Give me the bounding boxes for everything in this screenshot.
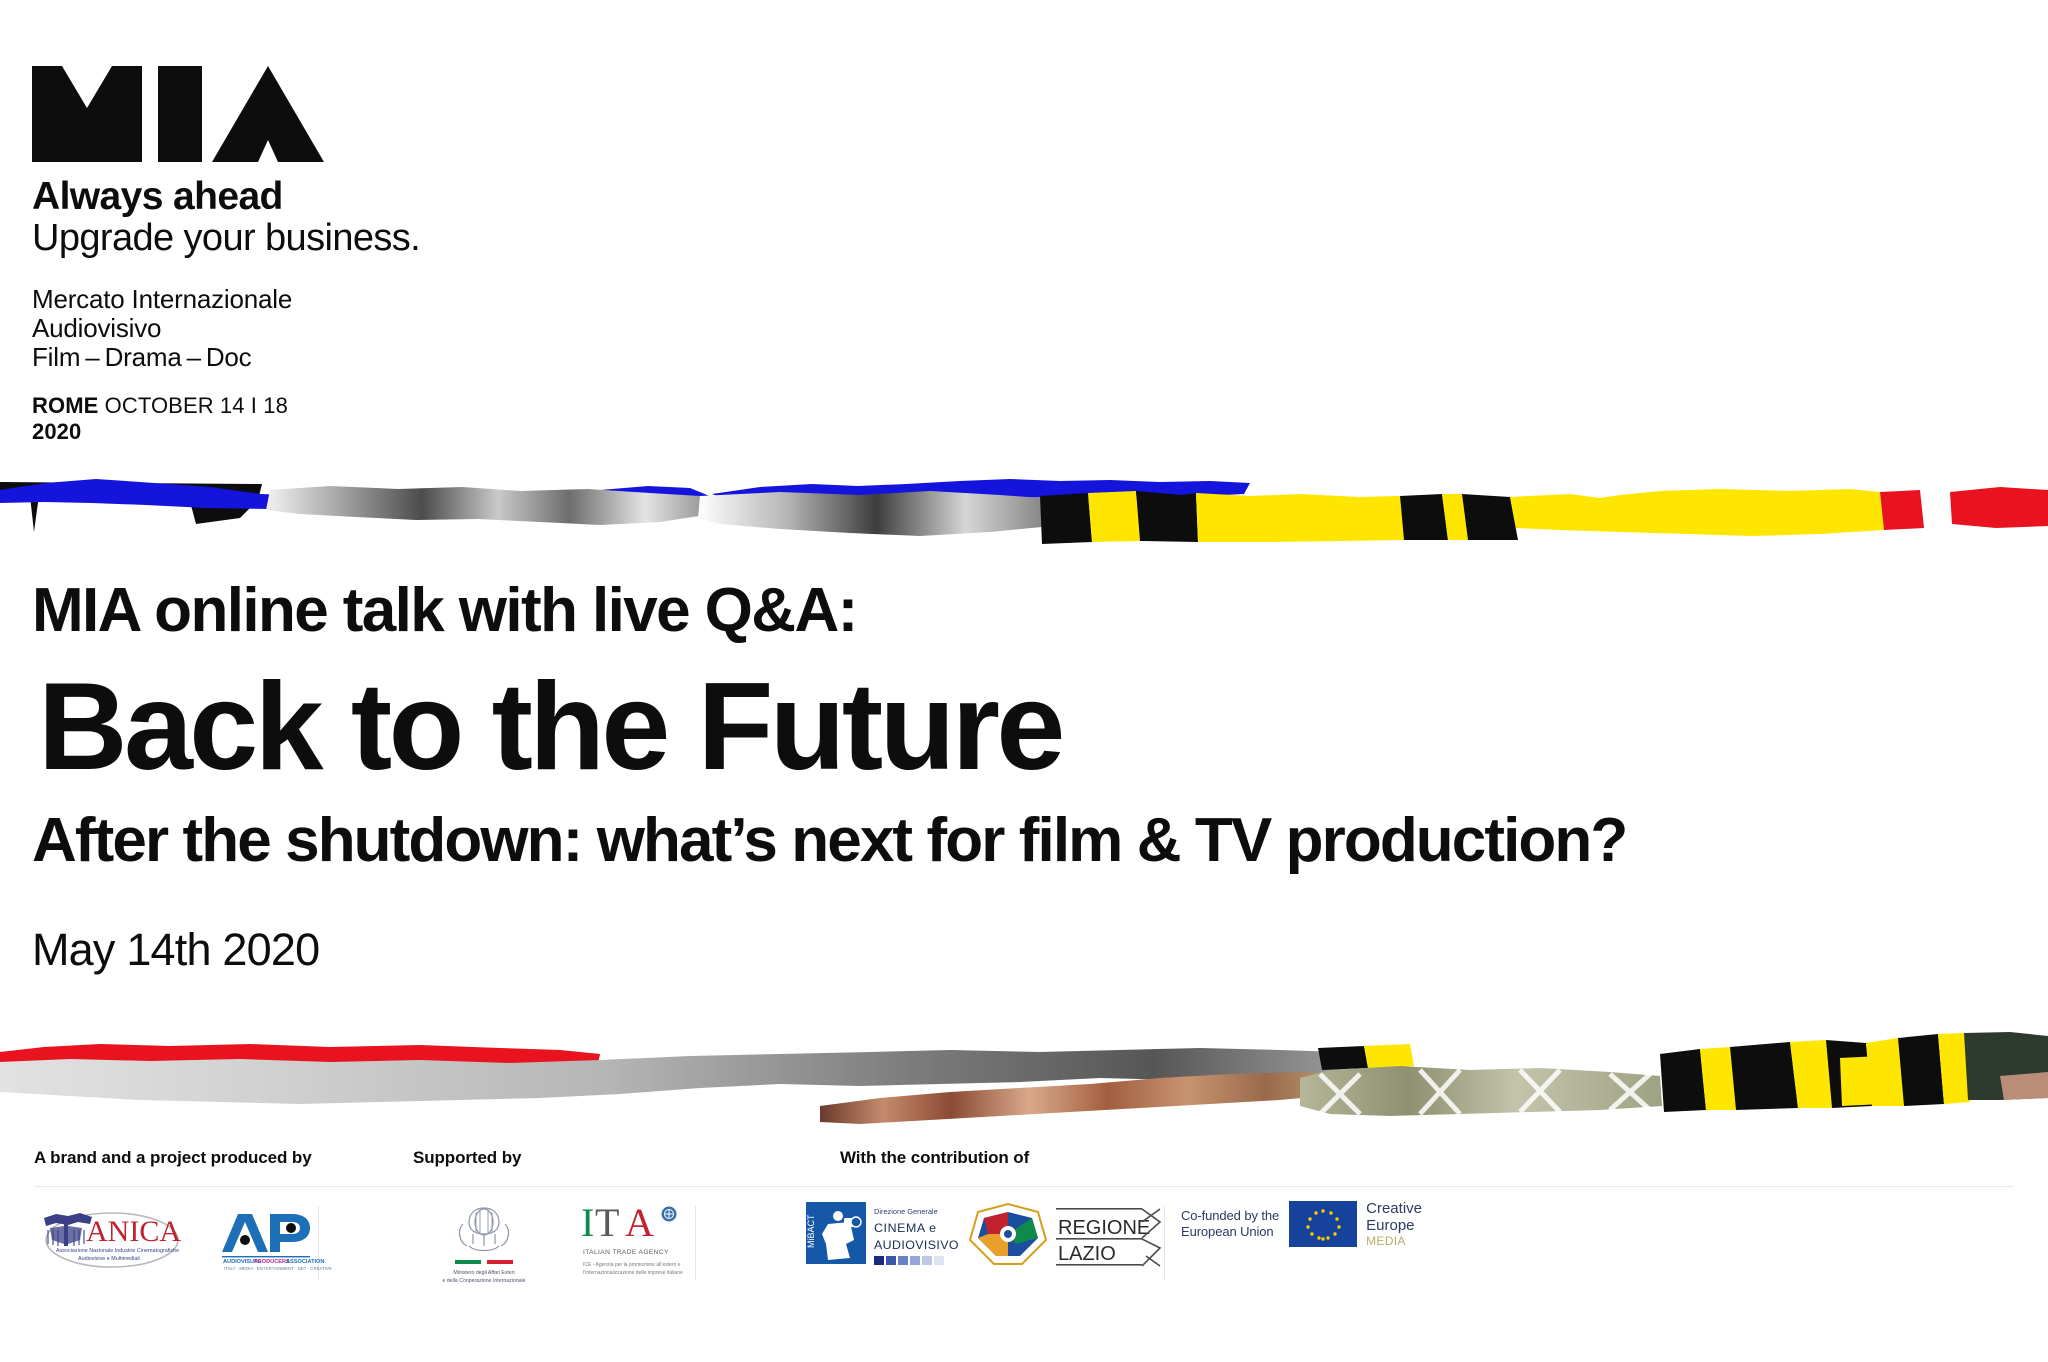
strip-bottom-skin-tone	[2000, 1072, 2048, 1100]
strip-top-red-1	[1880, 490, 1924, 530]
footer: A brand and a project produced by Suppor…	[0, 1148, 2048, 1362]
direzione-generale-cinema-audiovisivo-logo[interactable]: MiBACT Direzione Generale CINEMA e AUDIO…	[696, 1200, 952, 1274]
svg-text:LAZIO: LAZIO	[1058, 1243, 1116, 1265]
apa-logo[interactable]: AUDIOVISUAL PRODUCERS ASSOCIATION ITALY …	[204, 1200, 318, 1272]
svg-text:Audiovisive e Multimediali: Audiovisive e Multimediali	[78, 1256, 140, 1262]
talk-kicker: MIA online talk with live Q&A:	[32, 580, 2022, 642]
svg-text:Direzione Generale: Direzione Generale	[874, 1207, 938, 1216]
strip-bottom-black-small	[1318, 1046, 1368, 1070]
anica-eagle-icon	[44, 1213, 92, 1246]
brand-block: Always ahead Upgrade your business. Merc…	[32, 66, 472, 445]
svg-text:e della Cooperazione Internazi: e della Cooperazione Internazionale	[442, 1278, 525, 1284]
strip-bottom-yellow-small	[1364, 1044, 1414, 1068]
brand-city: ROME	[32, 393, 98, 418]
strip-top-hazard-black-3	[1400, 494, 1448, 540]
svg-text:ANICA: ANICA	[86, 1215, 181, 1248]
creative-europe-line-2: Europe	[1366, 1217, 1422, 1234]
regione-lazio-logo[interactable]: REGIONE LAZIO	[952, 1200, 1164, 1272]
eu-cofunding-line-1: Co-funded by the	[1181, 1208, 1279, 1224]
svg-text:I: I	[581, 1200, 594, 1245]
talk-date: May 14th 2020	[32, 924, 2022, 976]
ita-italian-trade-agency-logo[interactable]: I T A ITALIAN TRADE AGENCY ICE - Agenzia…	[539, 1200, 695, 1286]
torn-strip-top	[0, 470, 2048, 562]
footer-divider	[34, 1186, 2014, 1187]
footer-logos: ANICA Associazione Nazionale Industrie C…	[34, 1200, 1422, 1286]
anica-logo[interactable]: ANICA Associazione Nazionale Industrie C…	[34, 1200, 204, 1272]
footer-label-supported-by: Supported by	[413, 1148, 521, 1168]
svg-text:MiBACT: MiBACT	[806, 1214, 816, 1248]
svg-text:PRODUCERS: PRODUCERS	[254, 1259, 290, 1265]
european-union-block[interactable]: Co-funded by the European Union	[1181, 1200, 1422, 1249]
strip-bottom-hazard-yellow-1	[1700, 1047, 1736, 1110]
svg-text:ITALIAN TRADE AGENCY: ITALIAN TRADE AGENCY	[583, 1249, 669, 1256]
brand-dateline: ROME OCTOBER 14 I 18 2020	[32, 393, 472, 445]
strip-bottom-hazard-notch	[1840, 1056, 1882, 1106]
dgc-swatches	[874, 1256, 944, 1265]
strip-bottom-hazard-black-4	[1898, 1034, 1944, 1106]
creative-europe-line-1: Creative	[1366, 1200, 1422, 1217]
eu-cofunding-text: Co-funded by the European Union	[1181, 1208, 1279, 1240]
svg-text:ITALY · MEDIA · ENTERTAINMENT: ITALY · MEDIA · ENTERTAINMENT · NET · CR…	[224, 1266, 332, 1271]
svg-text:Ministero degli Affari Esteri: Ministero degli Affari Esteri	[453, 1270, 514, 1276]
footer-logo-divider-3	[1164, 1206, 1165, 1280]
european-union-flag-icon	[1289, 1201, 1357, 1247]
brand-tagline: Always ahead	[32, 176, 472, 217]
svg-text:l’internazionalizzazione delle: l’internazionalizzazione delle imprese i…	[583, 1270, 683, 1276]
strip-top-hazard-black-2	[1136, 491, 1198, 542]
brand-dates: OCTOBER 14 I 18	[105, 393, 288, 418]
strip-top-yellow-long	[1510, 489, 1884, 536]
creative-europe-line-3: MEDIA	[1366, 1235, 1422, 1249]
svg-text:ICE - Agenzia per la promozion: ICE - Agenzia per la promozione all’este…	[583, 1262, 681, 1268]
brand-description-line-3: Film – Drama – Doc	[32, 343, 472, 372]
brand-subtagline: Upgrade your business.	[32, 218, 472, 258]
footer-label-produced-by: A brand and a project produced by	[34, 1148, 312, 1168]
strip-top-hazard-black-4	[1462, 494, 1518, 540]
talk-headline: Back to the Future	[38, 664, 2022, 790]
svg-text:REGIONE: REGIONE	[1058, 1217, 1150, 1239]
brand-description: Mercato Internazionale Audiovisivo Film …	[32, 285, 472, 373]
brand-description-line-2: Audiovisivo	[32, 314, 472, 343]
strip-top-hazard-black-1	[1040, 493, 1092, 544]
footer-label-contribution-of: With the contribution of	[840, 1148, 1029, 1168]
strip-bottom-hazard-black-2	[1730, 1042, 1798, 1110]
ministero-affari-esteri-logo[interactable]: Ministero degli Affari Esteri e della Co…	[319, 1200, 539, 1286]
regione-lazio-emblem-icon	[970, 1204, 1046, 1264]
mia-wordmark-logo	[32, 66, 324, 162]
torn-strip-bottom	[0, 1028, 2048, 1138]
brand-year: 2020	[32, 419, 472, 445]
strip-bottom-hazard-black-1	[1660, 1049, 1706, 1112]
main-content: MIA online talk with live Q&A: Back to t…	[32, 580, 2022, 976]
brand-description-line-1: Mercato Internazionale	[32, 285, 472, 314]
svg-text:T: T	[595, 1200, 619, 1245]
strip-top-hazard-yellow-1	[1088, 491, 1140, 542]
svg-text:CINEMA e: CINEMA e	[874, 1221, 937, 1235]
creative-europe-media-text: Creative Europe MEDIA	[1366, 1200, 1422, 1249]
svg-text:A: A	[625, 1200, 654, 1245]
strip-top-photo-mid	[698, 491, 1055, 536]
strip-top-red-2	[1950, 487, 2048, 528]
strip-top-hazard-yellow-2	[1196, 493, 1404, 542]
svg-text:Associazione Nazionale Industr: Associazione Nazionale Industrie Cinemat…	[56, 1248, 179, 1254]
talk-subheadline: After the shutdown: what’s next for film…	[32, 810, 2022, 872]
footer-labels: A brand and a project produced by Suppor…	[34, 1148, 2048, 1188]
svg-text:AUDIOVISIVO: AUDIOVISIVO	[874, 1238, 959, 1252]
eu-cofunding-line-2: European Union	[1181, 1224, 1279, 1240]
